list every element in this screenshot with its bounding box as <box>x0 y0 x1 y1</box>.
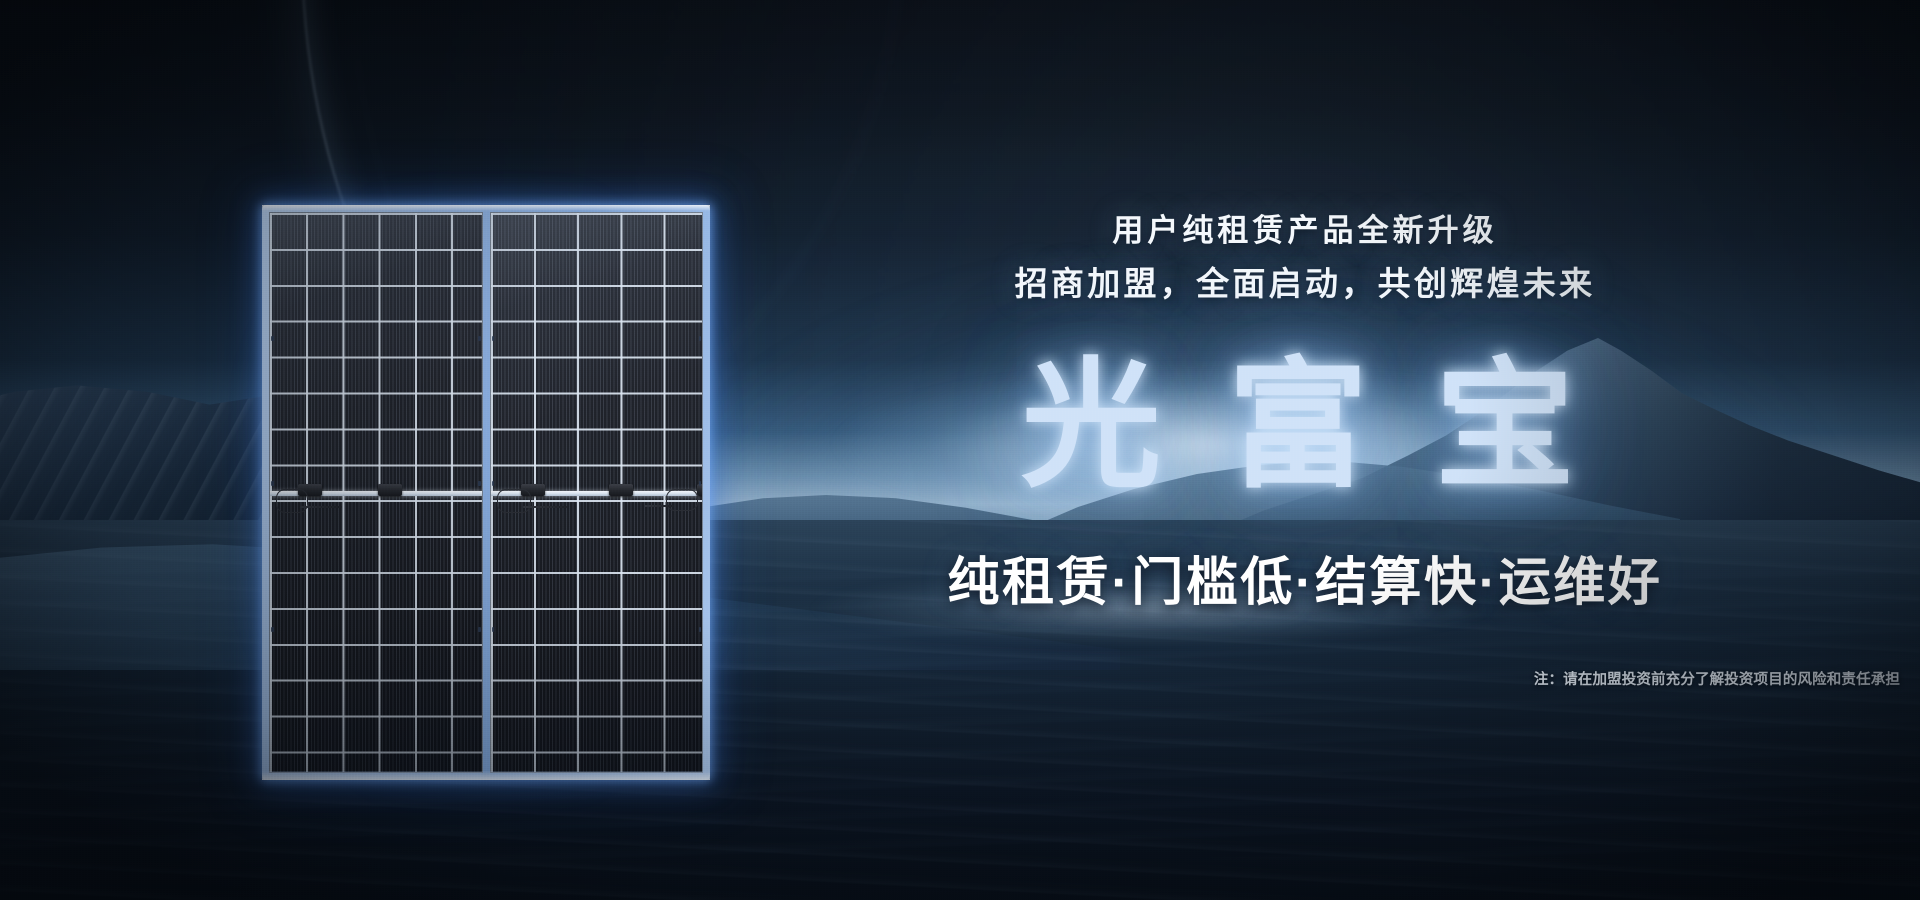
promo-banner: 用户纯租赁产品全新升级 招商加盟，全面启动，共创辉煌未来 光 富 宝 纯租赁·门… <box>0 0 1920 900</box>
film-grain-overlay <box>0 0 1920 900</box>
